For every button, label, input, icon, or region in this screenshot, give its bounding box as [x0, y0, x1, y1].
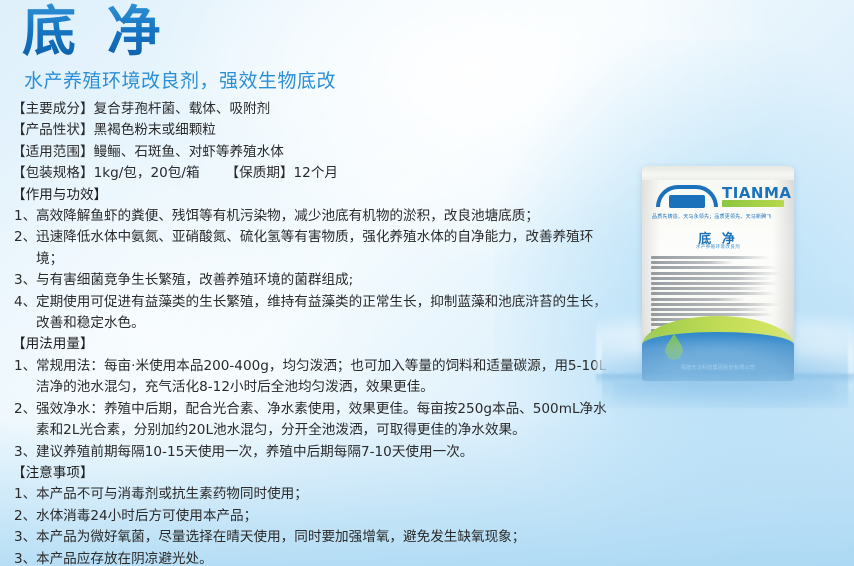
- spec-row-packaging: 【包装规格】1kg/包，20包/箱【保质期】12个月: [0, 163, 650, 184]
- logo-plate-shape: [669, 195, 705, 208]
- bag-slogan-text: 品质先铸造、天马永领先；品质更领先、天马新腾飞: [652, 213, 784, 220]
- spec-label: 【产品性状】: [12, 122, 94, 138]
- note-item: 1、本产品不可与消毒剂或抗生素药物同时使用；: [0, 484, 610, 505]
- spec-row-appearance: 【产品性状】黑褐色粉末或细颗粒: [0, 120, 650, 141]
- usage-item: 3、建议养殖前期每隔10-15天使用一次，养殖中后期每隔7-10天使用一次。: [0, 442, 610, 463]
- tianma-logo-icon: [656, 185, 718, 211]
- brand-green-strip: [722, 200, 784, 207]
- usage-item-text: 强效净水：养殖中后期，配合光合素、净水素使用，效果更佳。每亩按250g本品、50…: [36, 401, 607, 438]
- usage-item-index: 1、: [14, 356, 36, 377]
- section-heading-usage: 【用法用量】: [0, 334, 650, 355]
- spec-row-scope: 【适用范围】鳗鲡、石斑鱼、对虾等养殖水体: [0, 142, 650, 163]
- shelf-life-value: 12个月: [294, 165, 339, 181]
- usage-item-text: 常规用法：每亩·米使用本品200-400g，均匀泼洒；也可加入等量的饲料和适量碳…: [36, 358, 606, 395]
- product-detail-page: 底 净 水产养殖环境改良剂，强效生物底改 【主要成分】复合芽孢杆菌、载体、吸附剂…: [0, 0, 854, 566]
- bag-product-subtitle: 水产养殖环境改良剂: [642, 244, 794, 250]
- bag-top-seal: [642, 166, 794, 180]
- note-item: 3、本产品为微好氧菌，尽量选择在晴天使用，同时要加强增氧，避免发生缺氧现象；: [0, 527, 610, 548]
- spec-label: 【主要成分】: [12, 101, 94, 117]
- usage-item: 1、常规用法：每亩·米使用本品200-400g，均匀泼洒；也可加入等量的饲料和适…: [0, 356, 610, 399]
- effect-item: 1、高效降解鱼虾的粪便、残饵等有机污染物，减少池底有机物的淤积，改良池塘底质；: [0, 206, 610, 227]
- spec-label: 【适用范围】: [12, 144, 94, 160]
- usage-item-index: 2、: [14, 399, 36, 420]
- note-item: 2、水体消毒24小时后方可使用本产品；: [0, 506, 610, 527]
- effect-item-index: 1、: [14, 206, 36, 227]
- note-item-text: 水体消毒24小时后方可使用本产品；: [36, 508, 257, 524]
- packaging-label: 【包装规格】: [12, 165, 94, 181]
- note-item: 3、本产品应存放在阴凉避光处。: [0, 549, 610, 566]
- effect-item-text: 定期使用可促进有益藻类的生长繁殖，维持有益藻类的正常生长，抑制蓝藻和池底浒苔的生…: [36, 294, 607, 331]
- shelf-life-label: 【保质期】: [226, 165, 294, 181]
- note-item-text: 本产品为微好氧菌，尽量选择在晴天使用，同时要加强增氧，避免发生缺氧现象；: [36, 529, 525, 545]
- note-item-text: 本产品应存放在阴凉避光处。: [36, 551, 213, 566]
- effect-item-text: 与有害细菌竞争生长繁殖，改善养殖环境的菌群组成;: [36, 272, 353, 288]
- spec-value: 黑褐色粉末或细颗粒: [94, 122, 216, 138]
- note-item-index: 3、: [14, 527, 36, 548]
- effect-item: 3、与有害细菌竞争生长繁殖，改善养殖环境的菌群组成;: [0, 270, 610, 291]
- section-heading-notes: 【注意事项】: [0, 463, 650, 484]
- section-heading-effects: 【作用与功效】: [0, 185, 650, 206]
- note-item-index: 1、: [14, 484, 36, 505]
- product-package-image: TIANMA 品质先铸造、天马永领先；品质更领先、天马新腾飞 底 净 水产养殖环…: [596, 160, 854, 460]
- effect-item-text: 高效降解鱼虾的粪便、残饵等有机污染物，减少池底有机物的淤积，改良池塘底质；: [36, 208, 539, 224]
- usage-item-text: 建议养殖前期每隔10-15天使用一次，养殖中后期每隔7-10天使用一次。: [36, 444, 473, 460]
- effect-item-index: 3、: [14, 270, 36, 291]
- effect-item: 4、定期使用可促进有益藻类的生长繁殖，维持有益藻类的正常生长，抑制蓝藻和池底浒苔…: [0, 292, 610, 335]
- water-reflection: [614, 382, 834, 426]
- effect-item-text: 迅速降低水体中氨氮、亚硝酸氮、硫化氢等有害物质，强化养殖水体的自净能力，改善养殖…: [36, 229, 593, 266]
- spec-value: 鳗鲡、石斑鱼、对虾等养殖水体: [94, 144, 284, 160]
- page-title: 底 净: [22, 2, 167, 62]
- spec-row-ingredients: 【主要成分】复合芽孢杆菌、载体、吸附剂: [0, 99, 650, 120]
- note-item-index: 2、: [14, 506, 36, 527]
- usage-item-index: 3、: [14, 442, 36, 463]
- effect-item: 2、迅速降低水体中氨氮、亚硝酸氮、硫化氢等有害物质，强化养殖水体的自净能力，改善…: [0, 227, 610, 270]
- effect-item-index: 2、: [14, 227, 36, 248]
- product-description: 【主要成分】复合芽孢杆菌、载体、吸附剂 【产品性状】黑褐色粉末或细颗粒 【适用范…: [0, 99, 650, 566]
- spec-value: 复合芽孢杆菌、载体、吸附剂: [94, 101, 271, 117]
- note-item-text: 本产品不可与消毒剂或抗生素药物同时使用；: [36, 486, 308, 502]
- packaging-value: 1kg/包，20包/箱: [94, 165, 200, 181]
- note-item-index: 3、: [14, 549, 36, 566]
- usage-item: 2、强效净水：养殖中后期，配合光合素、净水素使用，效果更佳。每亩按250g本品、…: [0, 399, 610, 442]
- page-subtitle: 水产养殖环境改良剂，强效生物底改: [24, 66, 336, 93]
- effect-item-index: 4、: [14, 292, 36, 313]
